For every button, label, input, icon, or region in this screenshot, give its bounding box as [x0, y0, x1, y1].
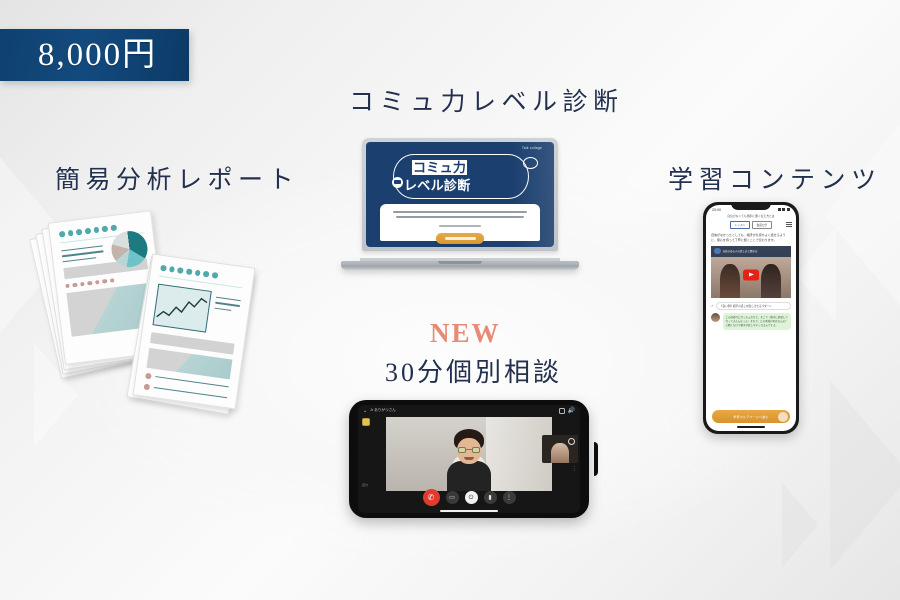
glasses-icon	[458, 447, 480, 453]
remote-participant	[446, 429, 492, 491]
home-indicator	[440, 510, 498, 512]
speaker-button[interactable]: ▮	[484, 491, 497, 504]
brand-logo-text: Talk collage	[522, 146, 542, 150]
laptop-hero-card	[380, 204, 540, 241]
chevron-down-icon[interactable]: ⌄	[363, 408, 367, 414]
pip-more-icon[interactable]: ⋮	[572, 467, 577, 472]
self-label: 自分	[362, 483, 368, 487]
card-text-line	[396, 216, 525, 218]
heading-new-sub: 30分個別相談	[385, 352, 562, 389]
person-right	[761, 264, 781, 298]
remote-video-feed	[386, 417, 552, 491]
hamburger-menu-icon[interactable]	[786, 222, 792, 228]
camera-icon: ▭	[449, 495, 455, 501]
tab-conversation-log[interactable]: 会話ログ	[752, 221, 772, 229]
more-vertical-icon: ⋮	[506, 495, 512, 501]
price-badge: 8,000円	[0, 29, 189, 81]
new-tag: NEW	[430, 318, 501, 349]
mouth	[464, 457, 474, 460]
card-text-line	[393, 211, 527, 213]
learning-cta-label: 学習カルテページへ進む	[733, 415, 768, 419]
video-player[interactable]: 自信のある人の話し方と聞き方	[711, 246, 791, 298]
status-time: 20:00	[712, 208, 721, 212]
body-text: 自信がなかったとしても、相手が気持ちよく話せるように、関心を持って丁寧に聞くこと…	[706, 229, 796, 245]
section-header-row: ✓ 【良い例】相手の話しを膨らませるパターン	[711, 302, 791, 311]
person-left	[720, 264, 740, 298]
laptop-title-line2: レベル診断	[404, 175, 471, 194]
home-indicator	[737, 426, 765, 428]
youtube-play-icon[interactable]	[743, 269, 759, 280]
call-participant-name: Jr ありがつさん	[370, 408, 396, 413]
heading-left: 簡易分析レポート	[55, 160, 299, 196]
torso	[447, 461, 491, 491]
phone-notch-side	[594, 442, 598, 476]
avatar	[711, 313, 720, 322]
call-header: ⌄ Jr ありがつさん 🔊	[358, 405, 580, 416]
phone-screen-videocall: ⌄ Jr ありがつさん 🔊	[358, 405, 580, 513]
video-header: 自信のある人の話し方と聞き方	[711, 246, 791, 257]
channel-avatar	[714, 248, 721, 255]
phone-screen-learning: 20:00 自信がなくても相手に響く伝え方とは レッスン 会話ログ 自信がなかっ…	[706, 205, 796, 431]
triangle-decor-right-3	[830, 380, 900, 570]
report-papers	[42, 210, 262, 405]
line-chart	[153, 283, 212, 332]
phone-down-icon: ✆	[428, 494, 435, 502]
learning-cta-button[interactable]: 学習カルテページへ進む	[712, 410, 790, 423]
laptop-mockup: Talk collage コミュ力 レベル診断	[341, 138, 579, 270]
phone-notch	[731, 202, 771, 210]
pip-indicator-icon	[568, 438, 575, 445]
call-controls: ✆ ▭ ⏻ ▮ ⋮	[358, 489, 580, 506]
price-badge-label: 8,000円	[32, 39, 157, 72]
card-note-line	[439, 225, 481, 227]
poster-canvas: 8,000円 コミュ力レベル診断 簡易分析レポート 学習コンテンツ NEW 30…	[0, 0, 900, 600]
tab-lesson[interactable]: レッスン	[730, 221, 750, 229]
tab-row: レッスン 会話ログ	[706, 221, 796, 229]
laptop-title-line1-text: コミュ力	[412, 160, 467, 175]
more-button[interactable]: ⋮	[503, 491, 516, 504]
text-line	[214, 307, 232, 311]
triangle-decor-right-2	[796, 228, 836, 323]
section-label: 【良い例】相手の話しを膨らませるパターン	[716, 302, 791, 311]
speaker-icon[interactable]: 🔊	[568, 408, 575, 414]
speaker-toggle-icon: ▮	[488, 495, 491, 501]
oval-icon	[523, 157, 538, 169]
switch-camera-icon[interactable]	[559, 408, 565, 414]
page-title: 自信がなくても相手に響く伝え方とは	[706, 212, 796, 219]
text-line	[216, 296, 241, 301]
laptop-title-line1: コミュ力	[412, 157, 467, 176]
badge-dot-icon	[392, 177, 403, 188]
text-line	[62, 250, 104, 257]
phone-portrait-mockup: 20:00 自信がなくても相手に響く伝え方とは レッスン 会話ログ 自信がなかっ…	[703, 202, 799, 434]
report-sheet-front-2	[133, 253, 256, 409]
video-title: 自信のある人の話し方と聞き方	[723, 249, 758, 253]
hang-up-button[interactable]: ✆	[423, 489, 440, 506]
chat-row: この前旅行に行ったんだけど、そこで（相手に共感して行ってきたんだった）それで、ど…	[711, 313, 791, 330]
check-icon: ✓	[711, 304, 714, 308]
cta-label-bar	[445, 237, 476, 240]
chat-bubble: この前旅行に行ったんだけど、そこで（相手に共感して行ってきたんだった）それで、ど…	[723, 313, 792, 330]
self-view-pip[interactable]	[542, 435, 578, 463]
triangle-decor-right-4	[782, 482, 818, 568]
text-line	[215, 302, 240, 307]
mic-button[interactable]: ⏻	[465, 491, 478, 504]
laptop-screen: Talk collage コミュ力 レベル診断	[366, 142, 554, 247]
heading-center: コミュ力レベル診断	[349, 82, 624, 118]
laptop-lid: Talk collage コミュ力 レベル診断	[362, 138, 558, 251]
text-line	[62, 257, 96, 263]
highlight-button[interactable]	[362, 418, 370, 426]
dot-row	[160, 265, 244, 282]
heading-right: 学習コンテンツ	[668, 160, 882, 196]
phone-landscape-mockup: ⌄ Jr ありがつさん 🔊	[349, 400, 589, 518]
cta-arrow-circle-icon	[778, 412, 788, 422]
camera-button[interactable]: ▭	[446, 491, 459, 504]
laptop-base	[341, 261, 579, 270]
laptop-cta-button[interactable]	[436, 233, 484, 244]
line-chart-path	[154, 284, 211, 331]
self-participant	[551, 443, 569, 463]
mic-muted-icon: ⏻	[469, 495, 474, 501]
status-icons	[778, 208, 790, 211]
